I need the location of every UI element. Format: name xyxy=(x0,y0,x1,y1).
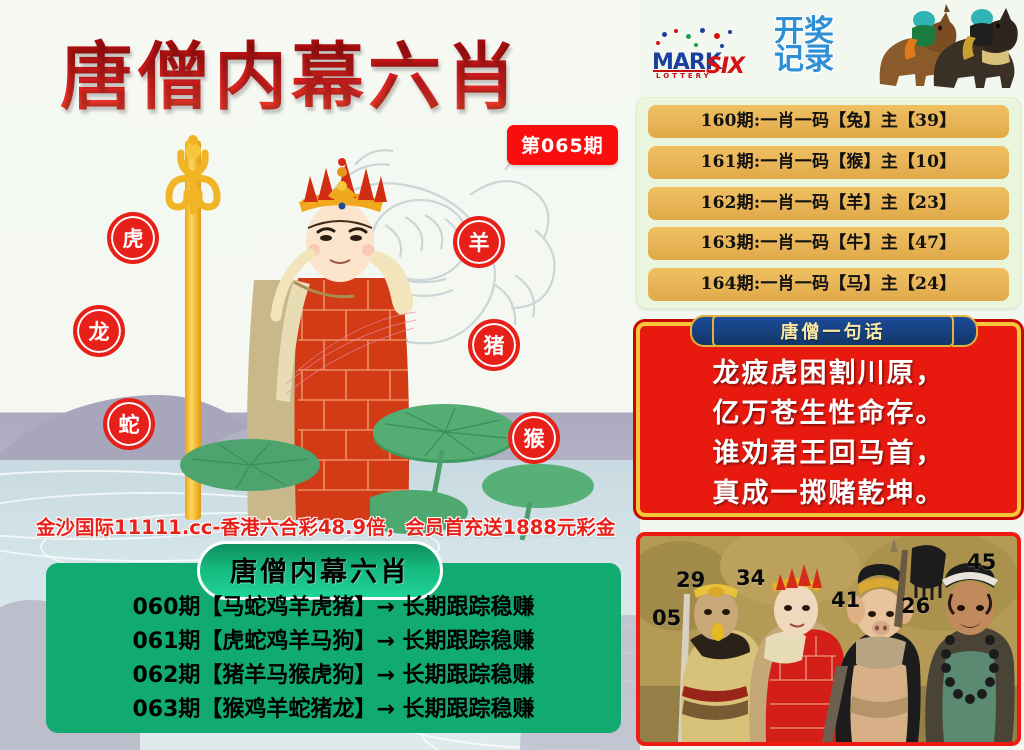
poem-banner-title: 唐僧一句话 xyxy=(712,315,954,347)
brand-lottery-text: LOTTERY xyxy=(656,72,712,80)
photo-box: 05 29 34 41 26 45 xyxy=(636,532,1021,746)
poem-line: 真成一掷赌乾坤。 xyxy=(636,474,1021,514)
photo-number: 05 xyxy=(652,606,681,630)
poem-line: 谁劝君王回马首， xyxy=(636,434,1021,474)
banner-scroll-right-icon xyxy=(952,315,978,347)
results-card: 160期:一肖一码【兔】主【39】 161期:一肖一码【猴】主【10】 162期… xyxy=(636,97,1021,309)
zodiac-seal-pig: 猪 xyxy=(468,319,520,371)
zodiac-seal-snake: 蛇 xyxy=(103,398,155,450)
result-row[interactable]: 162期:一肖一码【羊】主【23】 xyxy=(648,187,1009,220)
right-column: MARK SIX LOTTERY 开奖 记录 xyxy=(634,0,1024,750)
poem-lines: 龙疲虎困割川原， 亿万苍生性命存。 谁劝君王回马首， 真成一掷赌乾坤。 xyxy=(636,352,1021,514)
forecast-row: 063期【猴鸡羊蛇猪龙】→ 长期跟踪稳赚 xyxy=(46,694,621,726)
horse-racing-image xyxy=(862,4,1024,94)
forecast-row: 061期【虎蛇鸡羊马狗】→ 长期跟踪稳赚 xyxy=(46,626,621,658)
page-title: 唐僧内幕六肖 xyxy=(60,18,522,124)
result-row[interactable]: 163期:一肖一码【牛】主【47】 xyxy=(648,227,1009,260)
journey-to-the-west-photo xyxy=(640,536,1017,742)
photo-number: 41 xyxy=(831,588,860,612)
result-row[interactable]: 164期:一肖一码【马】主【24】 xyxy=(648,268,1009,301)
result-row[interactable]: 160期:一肖一码【兔】主【39】 xyxy=(648,105,1009,138)
photo-number: 34 xyxy=(736,566,765,590)
promo-ad-text: 金沙国际11111.cc-香港六合彩48.9倍，会员首充送1888元彩金 xyxy=(36,511,636,540)
forecast-row: 060期【马蛇鸡羊虎猪】→ 长期跟踪稳赚 xyxy=(46,592,621,624)
zodiac-seal-goat: 羊 xyxy=(453,216,505,268)
forecast-row: 062期【猪羊马猴虎狗】→ 长期跟踪稳赚 xyxy=(46,660,621,692)
issue-badge: 第065期 xyxy=(507,125,618,165)
poem-line: 龙疲虎困割川原， xyxy=(636,354,1021,394)
zodiac-seal-dragon: 龙 xyxy=(73,305,125,357)
lottery-poster-page: 虎 龙 蛇 羊 猪 猴 唐僧内幕六肖 唐僧内幕六肖 第065期 金沙国际1111… xyxy=(0,0,1024,750)
brand-header: MARK SIX LOTTERY 开奖 记录 xyxy=(634,0,1024,95)
mark-six-logo: MARK SIX LOTTERY xyxy=(648,28,768,78)
poem-line: 亿万苍生性命存。 xyxy=(636,394,1021,434)
photo-number: 26 xyxy=(901,594,930,618)
forecast-rows: 060期【马蛇鸡羊虎猪】→ 长期跟踪稳赚 061期【虎蛇鸡羊马狗】→ 长期跟踪稳… xyxy=(46,592,621,726)
result-row[interactable]: 161期:一肖一码【猴】主【10】 xyxy=(648,146,1009,179)
kaijiang-line-2: 记录 xyxy=(774,46,834,74)
kaijiang-heading: 开奖 记录 xyxy=(774,18,834,73)
zodiac-seal-tiger: 虎 xyxy=(107,212,159,264)
zodiac-seal-monkey: 猴 xyxy=(508,412,560,464)
photo-number: 45 xyxy=(967,550,996,574)
staff-head-ornament xyxy=(160,135,226,215)
photo-number: 29 xyxy=(676,568,705,592)
